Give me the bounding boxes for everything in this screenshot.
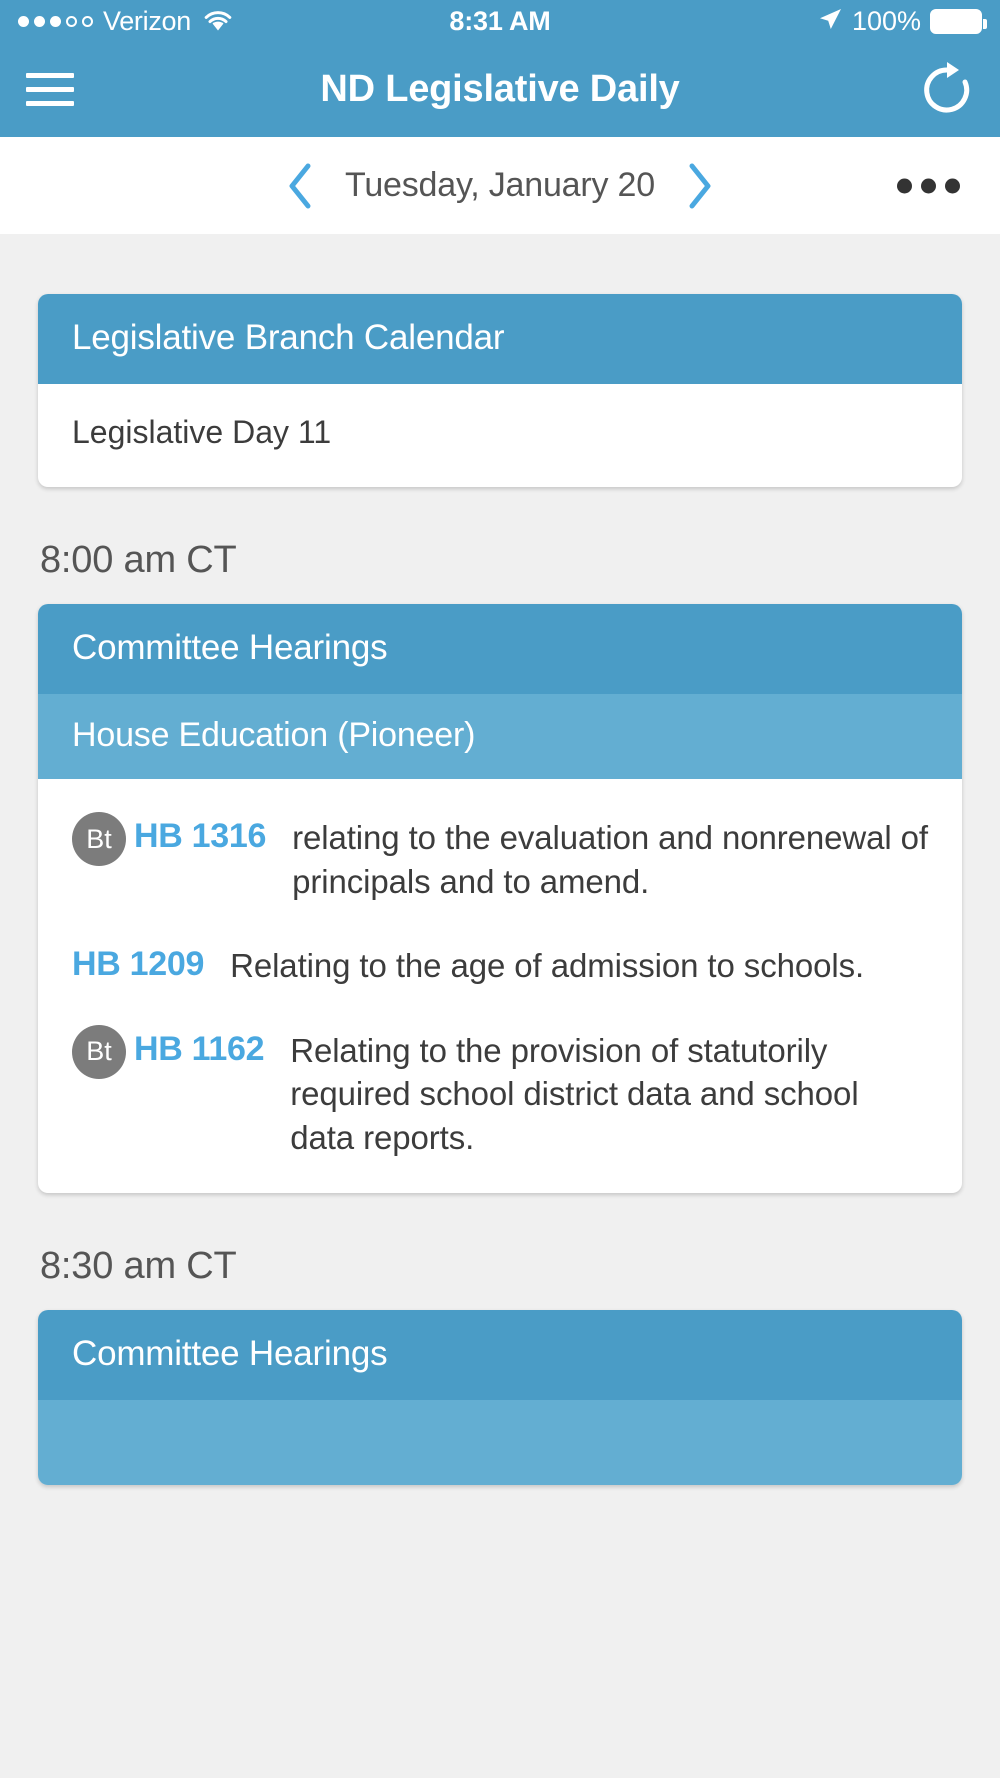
bill-tracker-badge-icon: Bt [72, 1025, 126, 1079]
page-title: ND Legislative Daily [0, 68, 1000, 111]
committee-hearings-card-830[interactable]: Committee Hearings [38, 1310, 962, 1485]
chevron-right-icon[interactable] [681, 159, 719, 213]
badge-slot: Bt [72, 1022, 134, 1079]
hamburger-menu-icon[interactable] [26, 73, 74, 106]
bill-number-link[interactable]: HB 1209 [72, 937, 204, 984]
battery-percent-label: 100% [852, 6, 921, 37]
date-navigation-bar: Tuesday, January 20 [0, 137, 1000, 234]
list-item[interactable]: Bt HB 1316 relating to the evaluation an… [72, 809, 928, 903]
calendar-card-body: Legislative Day 11 [38, 384, 962, 487]
current-date-label[interactable]: Tuesday, January 20 [345, 166, 655, 205]
list-item[interactable]: HB 1209 Relating to the age of admission… [72, 937, 928, 988]
list-item[interactable]: Bt HB 1162 Relating to the provision of … [72, 1022, 928, 1160]
status-bar-right: 100% [817, 6, 982, 37]
daily-agenda-list[interactable]: Legislative Branch Calendar Legislative … [0, 234, 1000, 1778]
bill-title-text: Relating to the age of admission to scho… [230, 937, 928, 988]
date-nav-group: Tuesday, January 20 [281, 159, 719, 213]
bill-list: Bt HB 1316 relating to the evaluation an… [38, 779, 962, 1193]
chevron-left-icon[interactable] [281, 159, 319, 213]
more-options-icon[interactable] [887, 168, 970, 203]
location-arrow-icon [817, 6, 843, 37]
battery-full-icon [930, 9, 982, 34]
committee-hearings-card-800[interactable]: Committee Hearings House Education (Pion… [38, 604, 962, 1193]
committee-name-subheader: House Education (Pioneer) [38, 694, 962, 779]
bill-tracker-badge-icon: Bt [72, 812, 126, 866]
time-header-830: 8:30 am CT [40, 1245, 962, 1288]
bill-title-text: Relating to the provision of statutorily… [290, 1022, 928, 1160]
committee-name-subheader [38, 1400, 962, 1485]
bill-number-link[interactable]: HB 1316 [134, 809, 266, 856]
committee-hearings-header: Committee Hearings [38, 1310, 962, 1400]
calendar-card[interactable]: Legislative Branch Calendar Legislative … [38, 294, 962, 487]
badge-slot: Bt [72, 809, 134, 866]
committee-hearings-header: Committee Hearings [38, 604, 962, 694]
bill-number-link[interactable]: HB 1162 [134, 1022, 264, 1069]
app-header: ND Legislative Daily [0, 42, 1000, 137]
calendar-card-header: Legislative Branch Calendar [38, 294, 962, 384]
time-header-800: 8:00 am CT [40, 539, 962, 582]
status-bar: Verizon 8:31 AM 100% [0, 0, 1000, 42]
app-screen: Verizon 8:31 AM 100% ND Legis [0, 0, 1000, 1778]
refresh-icon[interactable] [920, 61, 974, 119]
bill-title-text: relating to the evaluation and nonrenewa… [292, 809, 928, 903]
